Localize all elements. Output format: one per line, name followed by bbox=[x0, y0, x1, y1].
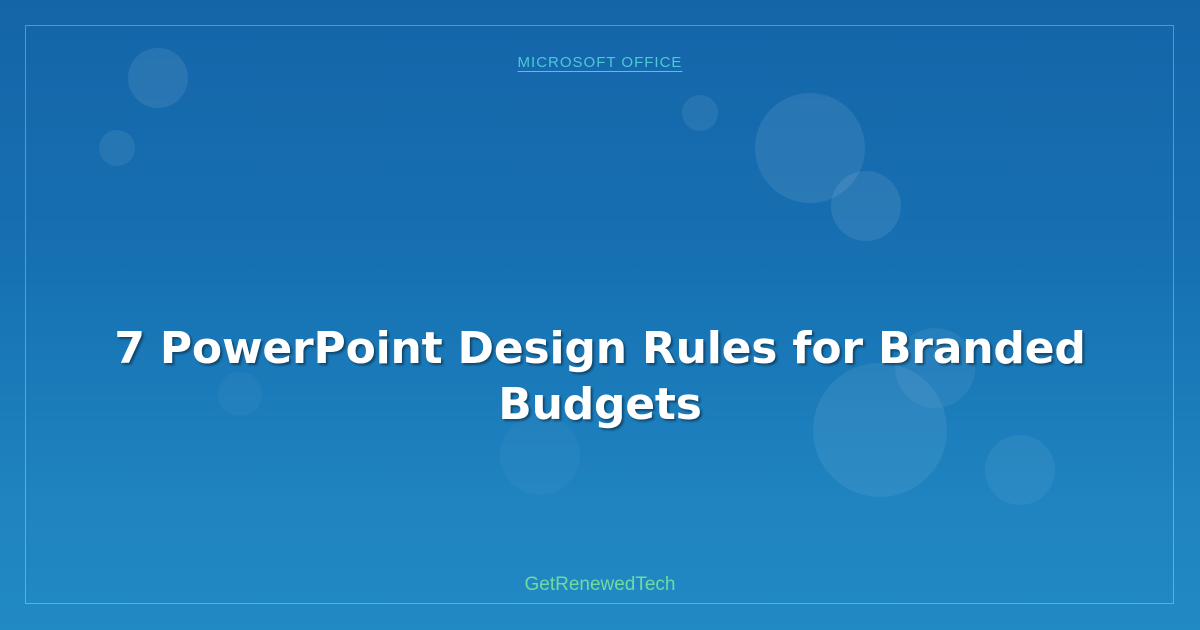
category-kicker: MICROSOFT OFFICE bbox=[0, 54, 1200, 71]
page-title: 7 PowerPoint Design Rules for Branded Bu… bbox=[0, 321, 1200, 433]
card-content: MICROSOFT OFFICE 7 PowerPoint Design Rul… bbox=[0, 0, 1200, 630]
social-share-card: MICROSOFT OFFICE 7 PowerPoint Design Rul… bbox=[0, 0, 1200, 630]
brand-footer: GetRenewedTech bbox=[0, 574, 1200, 596]
